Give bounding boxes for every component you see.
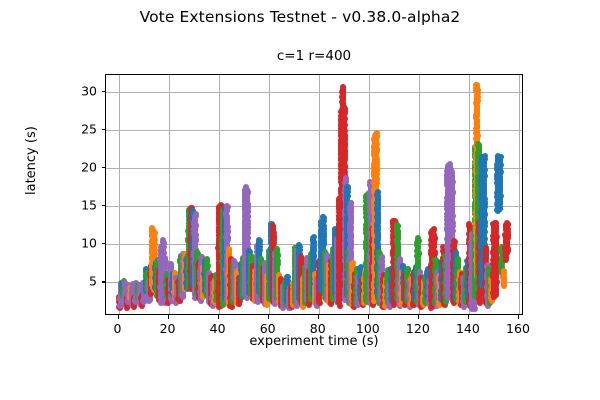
scatter-point (193, 211, 199, 217)
gridline-vertical (519, 75, 520, 314)
figure: Vote Extensions Testnet - v0.38.0-alpha2… (0, 0, 600, 400)
scatter-point (204, 256, 210, 262)
scatter-point (244, 187, 250, 193)
plot-area (105, 74, 523, 315)
chart-subtitle: c=1 r=400 (105, 48, 523, 64)
page-title: Vote Extensions Testnet - v0.38.0-alpha2 (0, 8, 600, 26)
scatter-point (270, 223, 276, 229)
gridline-vertical (119, 75, 120, 314)
scatter-point (226, 247, 232, 253)
scatter-point (284, 274, 290, 280)
scatter-point (343, 175, 349, 181)
scatter-point (168, 261, 174, 267)
scatter-point (298, 254, 304, 260)
scatter-point (274, 246, 280, 252)
scatter-point (296, 242, 302, 248)
scatter-point (160, 237, 166, 243)
scatter-point (311, 234, 317, 240)
